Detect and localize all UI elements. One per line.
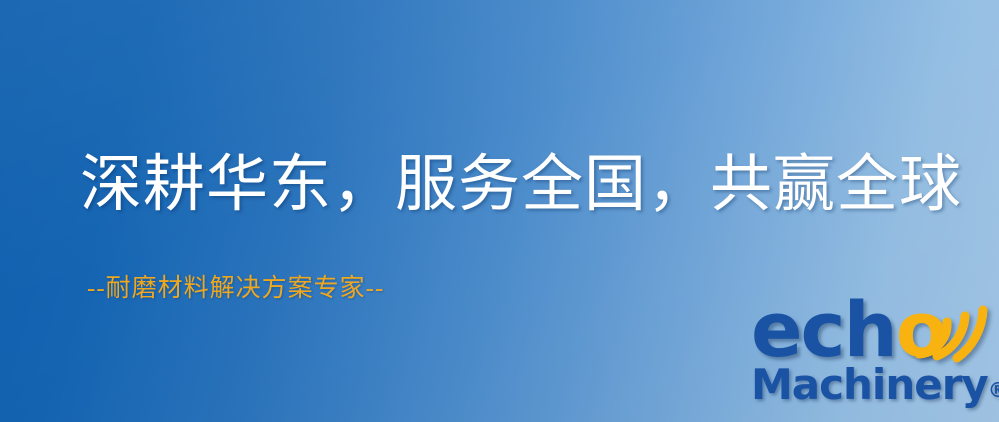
registered-trademark-icon: ® [988, 378, 999, 402]
logo-subwordmark: Machinery® [751, 364, 999, 406]
echo-waves-icon [913, 292, 999, 364]
banner-headline: 深耕华东，服务全国，共赢全球 [80, 152, 962, 219]
logo-text-machinery: Machinery [751, 360, 988, 409]
promo-banner: 深耕华东，服务全国，共赢全球 --耐磨材料解决方案专家-- echo Machi… [0, 0, 999, 422]
banner-subtitle: --耐磨材料解决方案专家-- [87, 268, 384, 304]
company-logo: echo Machinery® [745, 296, 999, 422]
